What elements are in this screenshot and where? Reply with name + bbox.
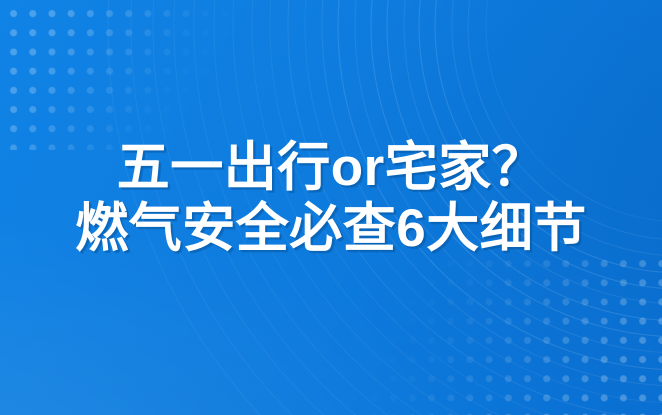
headline-block: 五一出行or宅家？ 燃气安全必查6大细节 — [0, 137, 662, 259]
promo-banner: 五一出行or宅家？ 燃气安全必查6大细节 — [0, 0, 662, 415]
headline-line-1: 五一出行or宅家？ — [0, 137, 662, 198]
headline-line-2: 燃气安全必查6大细节 — [0, 198, 662, 259]
